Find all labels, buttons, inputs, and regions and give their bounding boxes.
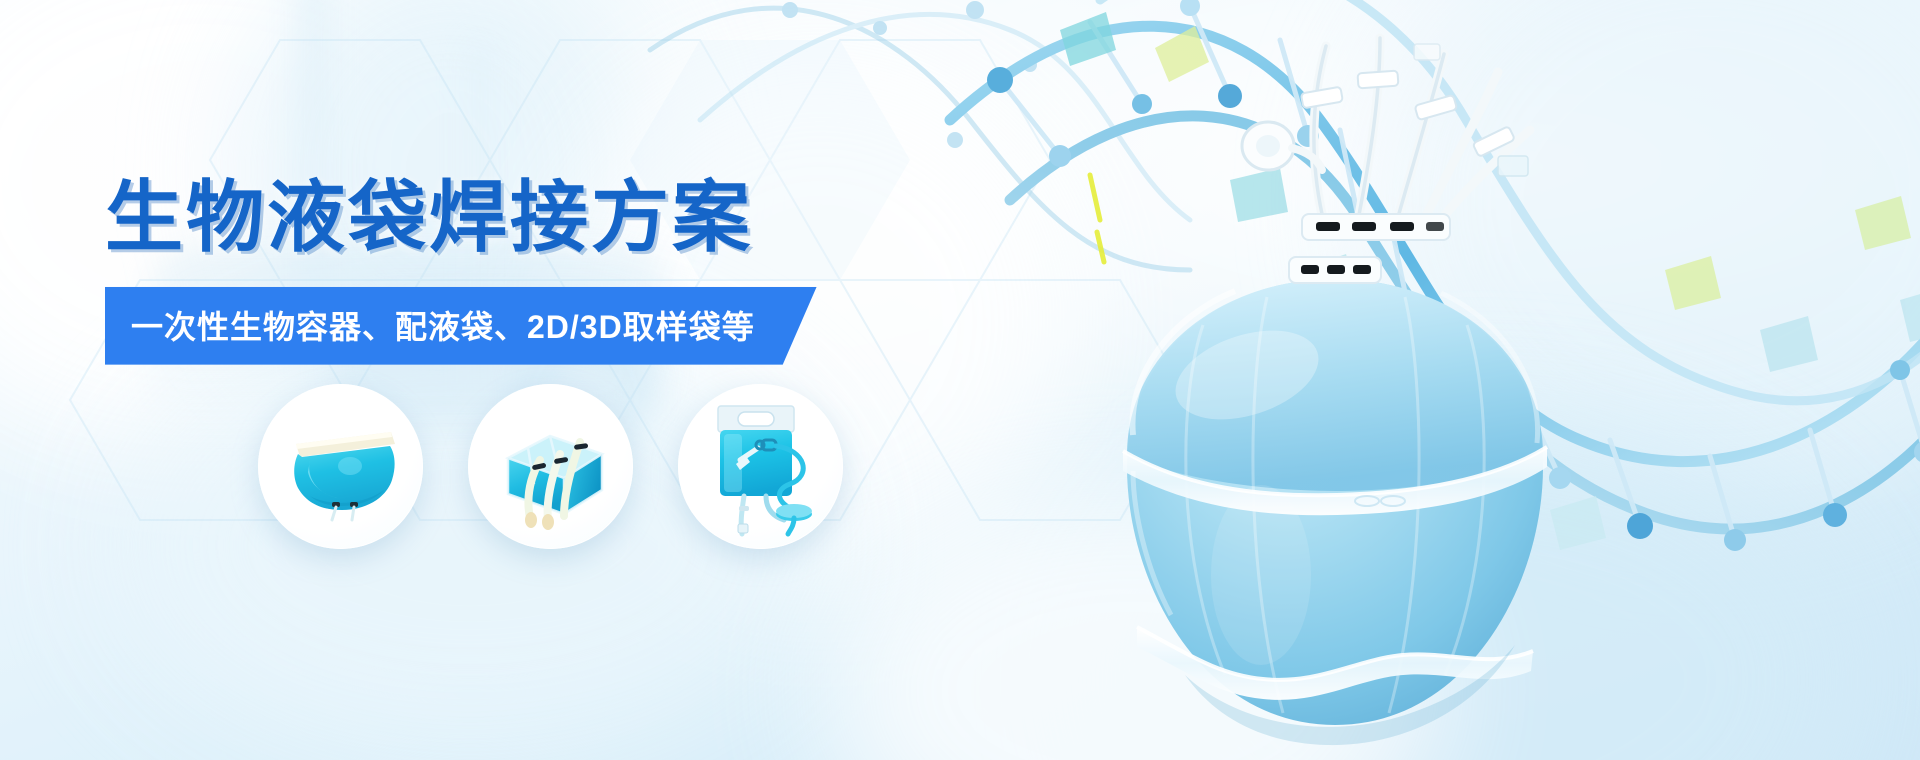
page-title: 生物液袋焊接方案 (105, 176, 817, 259)
product-thumbnail-2d-pillow-bag[interactable] (258, 384, 423, 549)
hero-banner: 生物液袋焊接方案 一次性生物容器、配液袋、2D/3D取样袋等 (0, 0, 1920, 760)
bioreactor-bag-illustration (1075, 255, 1595, 760)
sampling-bag-icon (678, 384, 843, 549)
headline-block: 生物液袋焊接方案 一次性生物容器、配液袋、2D/3D取样袋等 (105, 176, 817, 365)
subtitle-ribbon: 一次性生物容器、配液袋、2D/3D取样袋等 (105, 287, 817, 365)
product-thumbnail-3d-cube-bag[interactable] (468, 384, 633, 549)
product-thumbnail-sampling-bag[interactable] (678, 384, 843, 549)
pillow-bag-icon (258, 384, 423, 549)
cube-bag-icon (468, 384, 633, 549)
product-thumbnail-row (258, 384, 843, 549)
